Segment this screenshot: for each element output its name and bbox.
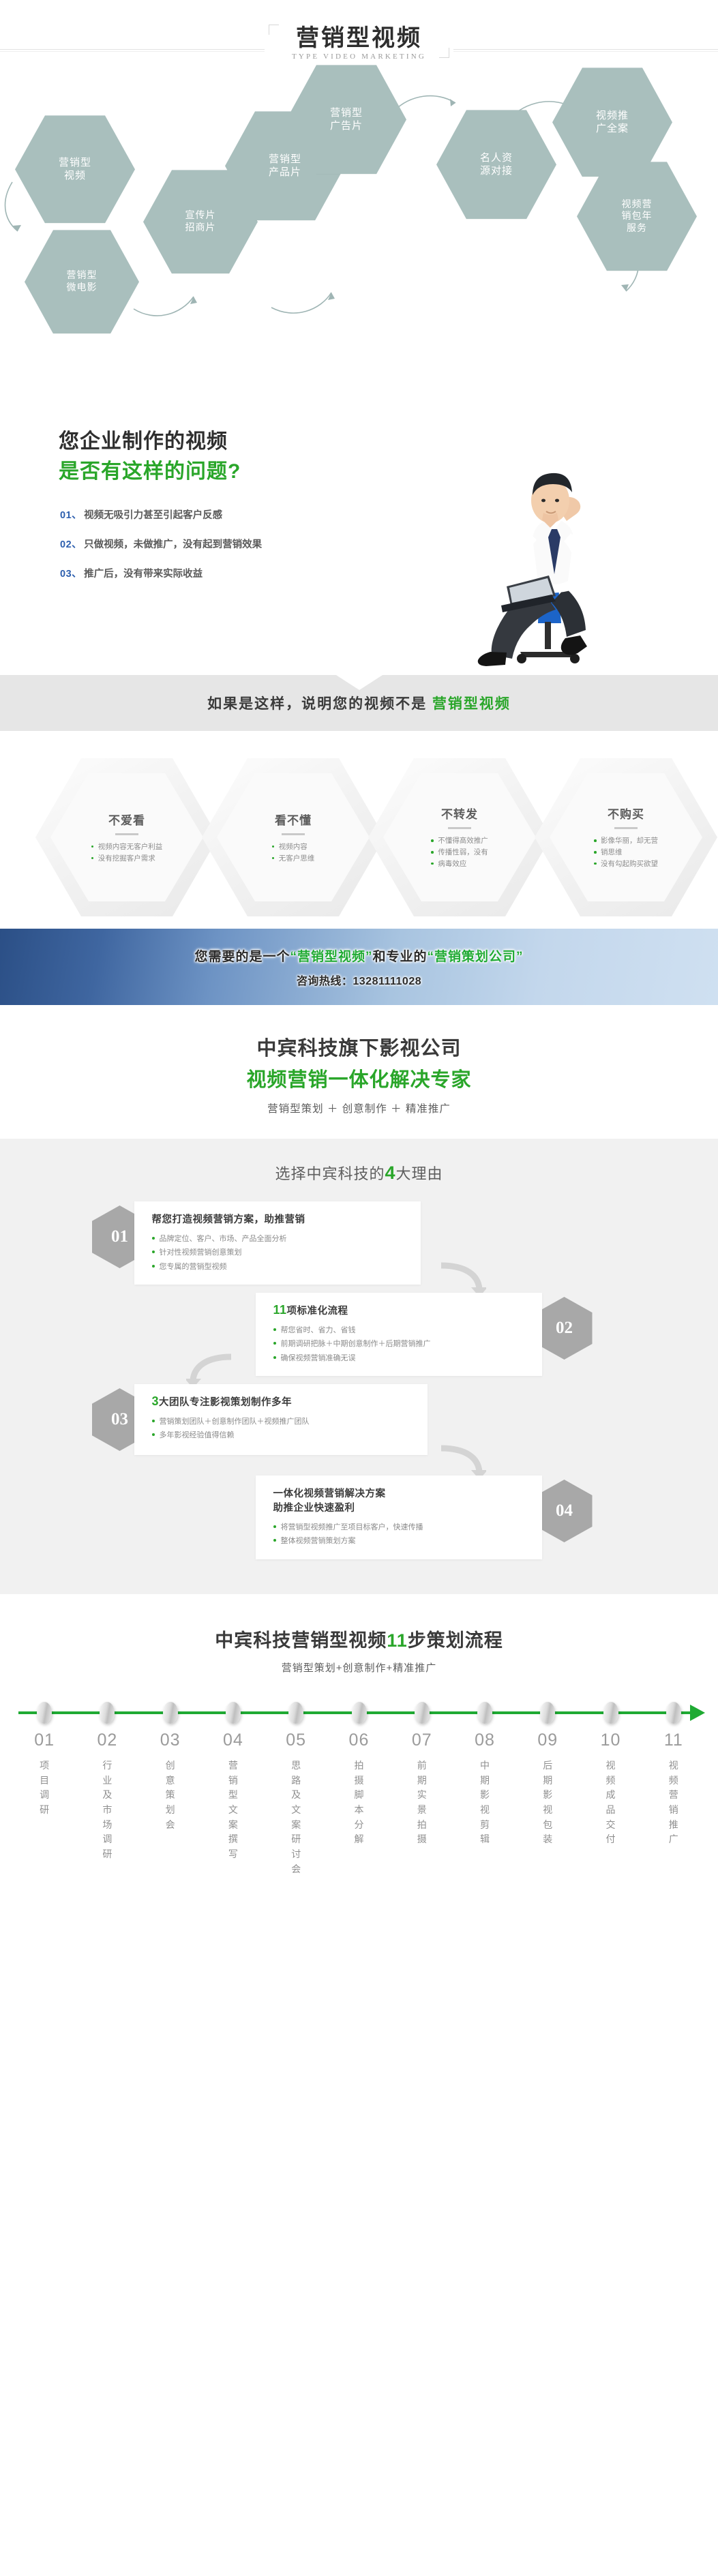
timeline-node [415,1702,430,1724]
timeline-arrow-icon [690,1705,705,1721]
cta-hotline[interactable]: 咨询热线：13281111028 [297,972,421,988]
list-item: 不懂得高效推广 [431,835,488,847]
hex-annual-service[interactable]: 视频营销包年服务 [577,162,697,271]
timeline-node [603,1702,618,1724]
step-number: 10 [601,1731,621,1750]
hex-label-line: 产品片 [269,166,301,179]
step-item[interactable]: 05思路及文案研讨会 [265,1731,327,1877]
hex-label-line: 营销型 [59,156,91,169]
hero-badge: 营销型视频 TYPE VIDEO MARKETING [265,23,453,65]
problem-hex-card-title: 看不懂 [275,811,312,828]
list-item: 销思维 [594,847,658,858]
cta-part2: 和专业的 [373,950,428,964]
hex-label-line: 视频营 [622,198,653,211]
grey-banner: 如果是这样，说明您的视频不是 营销型视频 [0,675,718,731]
problem-hex-card-inner: 看不懂视频内容无客户思维 [217,773,370,901]
banner-notch [336,675,383,690]
list-item: 整体视频营销策划方案 [273,1534,524,1548]
grey-banner-highlight: 营销型视频 [432,696,511,712]
reason-title-highlight: 11 [273,1303,287,1317]
list-item: 您专属的营销型视频 [152,1260,403,1274]
problem-hex-card[interactable]: 不转发不懂得高效推广传播性弱，没有病毒效应 [368,758,551,916]
hex-label-line: 营销型 [67,269,98,282]
businessman-illustration [425,453,650,678]
step-number: 06 [349,1731,370,1750]
reason-card[interactable]: 3大团队专注影视策划制作多年营销策划团队＋创意制作团队＋视频推广团队多年影视经验… [134,1384,428,1455]
list-item: 营销策划团队＋创意制作团队＋视频推广团队 [152,1415,410,1428]
problem-section: 您企业制作的视频 是否有这样的问题? 01、视频无吸引力甚至引起客户反感02、只… [0,382,718,675]
problem-item-text: 推广后，没有带来实际收益 [84,566,203,580]
grey-banner-prefix: 如果是这样，说明您的视频不是 [207,696,432,712]
timeline-node [37,1702,52,1724]
problem-hex-card-points: 视频内容无客户利益没有挖掘客户需求 [91,841,163,865]
problem-item-number: 01、 [60,507,82,522]
step-number: 07 [412,1731,432,1750]
list-item: 多年影视经验值得信赖 [152,1428,410,1442]
hexagon-cluster: 营销型视频宣传片招商片营销型微电影营销型产品片营销型广告片名人资源对接视频推广全… [0,80,718,373]
reason-card-points: 营销策划团队＋创意制作团队＋视频推广团队多年影视经验值得信赖 [152,1415,410,1443]
list-item: 影像华丽，却无营 [594,835,658,847]
problem-hex-card-title: 不转发 [441,805,478,822]
problem-hex-card-title: 不爱看 [108,811,145,828]
company-subtitle: 营销型策划 ＋ 创意制作 ＋ 精准推广 [0,1100,718,1115]
step-number: 04 [223,1731,243,1750]
problem-item-number: 03、 [60,566,82,580]
reason-title-highlight: 3 [152,1394,160,1408]
timeline-node [540,1702,555,1724]
step-label: 营销型文案撰写 [228,1758,238,1862]
step-item[interactable]: 03创意策划会 [139,1731,202,1877]
reason-row: 033大团队专注影视策划制作多年营销策划团队＋创意制作团队＋视频推广团队多年影视… [59,1384,659,1476]
hex-label-line: 广告片 [330,119,363,132]
hex-label-line: 服务 [622,222,653,235]
step-label: 创意策划会 [166,1758,175,1832]
step-item[interactable]: 06拍摄脚本分解 [327,1731,390,1877]
page-title: 营销型视频 [292,26,426,51]
cta-banner: 您需要的是一个“营销型视频”和专业的“营销策划公司” 咨询热线：13281111… [0,929,718,1005]
steps-title-suffix: 步策划流程 [408,1630,503,1651]
cta-headline: 您需要的是一个“营销型视频”和专业的“营销策划公司” [194,946,523,965]
reason-card[interactable]: 一体化视频营销解决方案助推企业快速盈利将营销型视频推广至项目标客户，快速传播整体… [256,1476,542,1559]
hex-label-line: 微电影 [67,282,98,294]
page-subtitle-en: TYPE VIDEO MARKETING [292,53,426,61]
four-problems-row: 不爱看视频内容无客户利益没有挖掘客户需求看不懂视频内容无客户思维不转发不懂得高效… [0,754,718,925]
list-item: 无客户思维 [272,853,315,865]
step-item[interactable]: 04营销型文案撰写 [202,1731,265,1877]
step-number: 02 [97,1731,117,1750]
reasons-section: 选择中宾科技的4大理由 01帮您打造视频营销方案，助推营销品牌定位、客户、市场、… [0,1139,718,1594]
problem-hex-card-inner: 不爱看视频内容无客户利益没有挖掘客户需求 [50,773,203,901]
list-item: 视频内容 [272,841,315,853]
reason-connector-arrow-icon [186,1351,234,1388]
company-heading-line1: 中宾科技旗下影视公司 [0,1032,718,1061]
timeline-node [666,1702,681,1724]
reason-card-points: 帮您省时、省力、省钱前期调研把脉＋中期创意制作＋后期营销推广确保视频营销准确无误 [273,1323,524,1365]
problem-item-text: 视频无吸引力甚至引起客户反感 [84,507,222,522]
reason-number-badge: 04 [537,1480,593,1542]
list-item: 没有挖掘客户需求 [91,853,163,865]
step-label: 中期影视剪辑 [480,1758,490,1847]
steps-grid: 01项目调研02行业及市场调研03创意策划会04营销型文案撰写05思路及文案研讨… [13,1731,705,1877]
hex-label: 营销型视频 [59,156,91,182]
list-item: 病毒效应 [431,858,488,870]
hex-label: 名人资源对接 [480,151,513,177]
step-item[interactable]: 09后期影视包装 [516,1731,579,1877]
timeline-node [288,1702,303,1724]
hex-label-line: 视频 [59,169,91,182]
company-section: 中宾科技旗下影视公司 视频营销一体化解决专家 营销型策划 ＋ 创意制作 ＋ 精准… [0,1005,718,1139]
hex-label-line: 视频推 [596,109,629,122]
four-problems-section: 不爱看视频内容无客户利益没有挖掘客户需求看不懂视频内容无客户思维不转发不懂得高效… [0,731,718,929]
hero-title-wrap: 营销型视频 TYPE VIDEO MARKETING [0,23,718,65]
steps-section: 中宾科技营销型视频11步策划流程 营销型策划+创意制作+精准推广 01项目调研0… [0,1594,718,1895]
steps-title-prefix: 中宾科技营销型视频 [215,1630,387,1651]
step-label: 前期实景拍摄 [417,1758,427,1847]
reason-card-title: 一体化视频营销解决方案助推企业快速盈利 [273,1486,524,1514]
hex-label-line: 营销型 [330,106,363,119]
hex-label-line: 营销型 [269,153,301,166]
hero-section: 营销型视频 TYPE VIDEO MARKETING [0,0,718,382]
reason-row: 0211项标准化流程帮您省时、省力、省钱前期调研把脉＋中期创意制作＋后期营销推广… [59,1293,659,1384]
hex-marketing-video[interactable]: 营销型视频 [15,115,135,223]
timeline-node [100,1702,115,1724]
reason-row: 01帮您打造视频营销方案，助推营销品牌定位、客户、市场、产品全面分析针对性视频营… [59,1201,659,1293]
hex-label-line: 源对接 [480,164,513,177]
list-item: 没有勾起购买欲望 [594,858,658,870]
problem-item: 02、只做视频，未做推广，没有起到营销效果 [60,537,262,551]
reason-card-points: 品牌定位、客户、市场、产品全面分析针对性视频营销创意策划您专属的营销型视频 [152,1232,403,1274]
problem-hex-card-points: 不懂得高效推广传播性弱，没有病毒效应 [431,835,488,869]
cta-quote2: “营销策划公司” [428,950,524,964]
step-item[interactable]: 07前期实景拍摄 [391,1731,453,1877]
timeline-node [163,1702,178,1724]
step-item[interactable]: 02行业及市场调研 [76,1731,138,1877]
step-number: 08 [475,1731,495,1750]
divider [115,833,138,835]
reason-number-badge: 02 [537,1297,593,1360]
list-item: 前期调研把脉＋中期创意制作＋后期营销推广 [273,1337,524,1351]
problem-hex-card-points: 影像华丽，却无营销思维没有勾起购买欲望 [594,835,658,869]
problem-heading-line2: 是否有这样的问题? [59,454,241,484]
hex-label: 营销型微电影 [67,269,98,294]
problem-item: 03、推广后，没有带来实际收益 [60,566,262,580]
list-item: 品牌定位、客户、市场、产品全面分析 [152,1232,403,1246]
timeline-node [477,1702,492,1724]
step-label: 拍摄脚本分解 [354,1758,363,1847]
hex-label: 宣传片招商片 [185,209,216,234]
step-label: 行业及市场调研 [102,1758,112,1862]
reason-card[interactable]: 帮您打造视频营销方案，助推营销品牌定位、客户、市场、产品全面分析针对性视频营销创… [134,1201,421,1285]
problem-hex-card[interactable]: 不爱看视频内容无客户利益没有挖掘客户需求 [35,758,218,916]
problem-item-text: 只做视频，未做推广，没有起到营销效果 [84,537,262,551]
step-item[interactable]: 01项目调研 [13,1731,76,1877]
problem-list: 01、视频无吸引力甚至引起客户反感02、只做视频，未做推广，没有起到营销效果03… [60,507,262,595]
reasons-title: 选择中宾科技的4大理由 [0,1162,718,1184]
step-number: 11 [664,1731,683,1750]
hex-label-line: 广全案 [596,122,629,135]
problem-heading-line1: 您企业制作的视频 [59,424,228,454]
divider [282,833,305,835]
company-heading-line2: 视频营销一体化解决专家 [0,1064,718,1092]
hex-label: 视频营销包年服务 [622,198,653,235]
step-item[interactable]: 08中期影视剪辑 [453,1731,516,1877]
hex-label: 营销型产品片 [269,153,301,179]
reasons-list: 01帮您打造视频营销方案，助推营销品牌定位、客户、市场、产品全面分析针对性视频营… [59,1201,659,1567]
problem-hex-card-title: 不购买 [608,805,644,822]
problem-hex-card-points: 视频内容无客户思维 [272,841,315,865]
hex-label-line: 名人资 [480,151,513,164]
problem-hex-card-inner: 不购买影像华丽，却无营销思维没有勾起购买欲望 [550,773,702,901]
list-item: 将营销型视频推广至项目标客户，快速传播 [273,1521,524,1534]
step-number: 01 [34,1731,55,1750]
list-item: 针对性视频营销创意策划 [152,1246,403,1259]
reasons-title-prefix: 选择中宾科技的 [275,1165,385,1182]
reason-card-points: 将营销型视频推广至项目标客户，快速传播整体视频营销策划方案 [273,1521,524,1548]
step-label: 视频成品交付 [606,1758,616,1847]
reason-card-title: 帮您打造视频营销方案，助推营销 [152,1212,403,1226]
step-number: 03 [160,1731,181,1750]
hex-label-line: 销包年 [622,210,653,222]
list-item: 确保视频营销准确无误 [273,1351,524,1365]
step-item[interactable]: 10视频成品交付 [579,1731,642,1877]
problem-hex-card[interactable]: 看不懂视频内容无客户思维 [202,758,385,916]
hex-promotion-plan[interactable]: 视频推广全案 [552,68,672,177]
list-item: 传播性弱，没有 [431,847,488,858]
list-item: 帮您省时、省力、省钱 [273,1323,524,1337]
steps-title: 中宾科技营销型视频11步策划流程 [0,1626,718,1652]
step-label: 思路及文案研讨会 [291,1758,301,1877]
timeline-node [226,1702,241,1724]
reason-card-title: 11项标准化流程 [273,1303,524,1317]
cta-quote1: “营销型视频” [290,950,372,964]
steps-subtitle: 营销型策划+创意制作+精准推广 [0,1660,718,1675]
problem-hex-card[interactable]: 不购买影像华丽，却无营销思维没有勾起购买欲望 [535,758,717,916]
reason-connector-arrow-icon [438,1443,486,1480]
problem-item: 01、视频无吸引力甚至引起客户反感 [60,507,262,522]
problem-item-number: 02、 [60,537,82,551]
step-item[interactable]: 11视频营销推广 [642,1731,705,1877]
step-label: 视频营销推广 [669,1758,678,1847]
reason-row: 04一体化视频营销解决方案助推企业快速盈利将营销型视频推广至项目标客户，快速传播… [59,1476,659,1567]
hex-label-line: 宣传片 [185,209,216,222]
hex-label: 营销型广告片 [330,106,363,132]
landing-page: 营销型视频 TYPE VIDEO MARKETING [0,0,718,1895]
problem-hex-card-inner: 不转发不懂得高效推广传播性弱，没有病毒效应 [383,773,536,901]
grey-banner-text: 如果是这样，说明您的视频不是 营销型视频 [207,693,511,713]
step-number: 09 [537,1731,558,1750]
divider [614,827,638,829]
reason-card[interactable]: 11项标准化流程帮您省时、省力、省钱前期调研把脉＋中期创意制作＋后期营销推广确保… [256,1293,542,1376]
reasons-title-suffix: 大理由 [396,1165,443,1182]
step-label: 后期影视包装 [543,1758,552,1847]
step-label: 项目调研 [40,1758,49,1818]
hex-celebrity[interactable]: 名人资源对接 [436,110,556,219]
hex-label-line: 招商片 [185,222,216,234]
reason-card-title: 3大团队专注影视策划制作多年 [152,1394,410,1409]
hex-micro-film[interactable]: 营销型微电影 [25,230,139,333]
hex-label: 视频推广全案 [596,109,629,135]
timeline-node [352,1702,367,1724]
cta-part1: 您需要的是一个 [194,950,290,964]
step-number: 05 [286,1731,306,1750]
reason-connector-arrow-icon [438,1260,486,1297]
steps-title-number: 11 [387,1630,408,1651]
list-item: 视频内容无客户利益 [91,841,163,853]
steps-timeline [13,1699,705,1726]
divider [448,827,471,829]
reasons-title-number: 4 [385,1163,395,1183]
